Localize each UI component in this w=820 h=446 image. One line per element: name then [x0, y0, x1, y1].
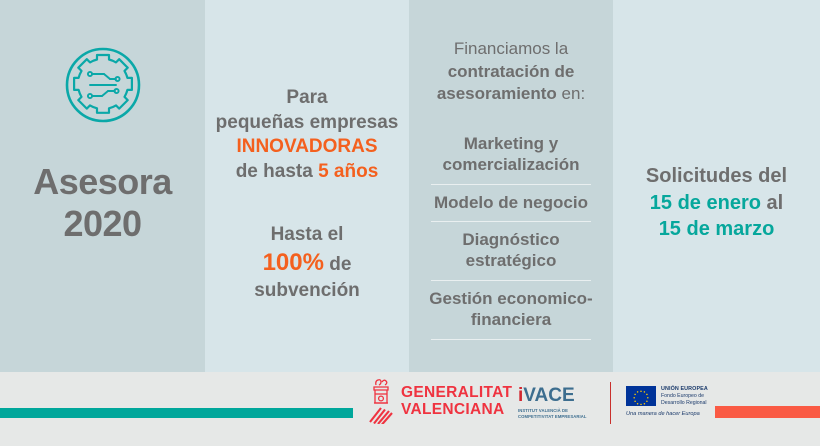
brand-title: Asesora 2020	[33, 161, 172, 246]
gear-circuit-icon	[63, 45, 143, 125]
eu-slogan: Una manera de hacer Europa	[626, 411, 708, 417]
european-union-flag-icon	[626, 386, 656, 406]
eligibility-line4-highlight: 5 años	[318, 161, 378, 182]
services-lead-bold1: contratación de	[448, 62, 575, 81]
eu-subtitle-line1: Fondo Europeo de	[661, 393, 708, 400]
services-lead: Financiamos la contratación de asesorami…	[417, 38, 605, 106]
eligibility-highlight-innovadoras: INNOVADORAS	[211, 135, 403, 160]
eligibility-line2: pequeñas empresas	[211, 111, 403, 136]
subsidy-line1: Hasta el	[211, 223, 403, 248]
ivace-rest: VACE	[523, 385, 574, 406]
gva-line2: VALENCIANA	[401, 401, 512, 418]
columns-container: Asesora 2020 Para pequeñas empresas INNO…	[0, 0, 820, 372]
eligibility-line4: de hasta 5 años	[211, 160, 403, 185]
teal-accent-bar	[0, 408, 353, 418]
service-item: Gestión economico-financiera	[417, 281, 605, 339]
european-union-text: UNIÓN EUROPEA Fondo Europeo de Desarroll…	[661, 386, 708, 407]
services-lead-line1: Financiamos la	[417, 38, 605, 61]
column-eligibility: Para pequeñas empresas INNOVADORAS de ha…	[205, 0, 409, 372]
brand-title-line1: Asesora	[33, 161, 172, 203]
service-item: Diagnóstico estratégico	[417, 222, 605, 280]
promotional-banner: Asesora 2020 Para pequeñas empresas INNO…	[0, 0, 820, 446]
eu-title: UNIÓN EUROPEA	[661, 386, 708, 393]
orange-accent-bar	[715, 406, 820, 418]
deadline-line2: 15 de enero al	[619, 190, 814, 217]
column-services: Financiamos la contratación de asesorami…	[409, 0, 613, 372]
ivace-subtitle-line2: COMPETITIVITAT EMPRESARIAL	[518, 414, 587, 420]
deadline-date-to: 15 de marzo	[619, 216, 814, 243]
column-brand: Asesora 2020	[0, 0, 205, 372]
column-deadline: Solicitudes del 15 de enero al 15 de mar…	[613, 0, 820, 372]
gva-line1: GENERALITAT	[401, 384, 512, 401]
services-lead-suffix: en:	[557, 84, 585, 103]
logo-divider	[610, 382, 611, 424]
subsidy-block: Hasta el 100% de subvención	[211, 223, 403, 304]
deadline-connector: al	[761, 192, 783, 214]
generalitat-valenciana-logo: GENERALITAT VALENCIANA	[368, 378, 512, 424]
services-lead-bold2: asesoramiento	[437, 84, 557, 103]
brand-title-line2: 2020	[33, 203, 172, 245]
ivace-subtitle: INSTITUT VALENCIÀ DE COMPETITIVITAT EMPR…	[518, 408, 587, 420]
subsidy-line2: 100% de	[211, 247, 403, 278]
subsidy-line2-suffix: de	[324, 254, 351, 275]
deadline-date-from: 15 de enero	[650, 192, 761, 214]
eligibility-line4-prefix: de hasta	[236, 161, 318, 182]
services-list: Marketing y comercialización Modelo de n…	[417, 126, 605, 340]
service-item: Marketing y comercialización	[417, 126, 605, 184]
service-item: Modelo de negocio	[417, 185, 605, 221]
eu-subtitle-line2: Desarrollo Regional	[661, 400, 708, 407]
deadline-block: Solicitudes del 15 de enero al 15 de mar…	[619, 163, 814, 243]
ivace-logo: iVACE INSTITUT VALENCIÀ DE COMPETITIVITA…	[518, 386, 587, 420]
generalitat-valenciana-wordmark: GENERALITAT VALENCIANA	[401, 384, 512, 419]
deadline-line1: Solicitudes del	[619, 163, 814, 190]
eligibility-block: Para pequeñas empresas INNOVADORAS de ha…	[211, 86, 403, 185]
generalitat-valenciana-shield-icon	[368, 378, 394, 424]
subsidy-percent: 100%	[263, 249, 324, 276]
eligibility-line1: Para	[211, 86, 403, 111]
european-union-logo: UNIÓN EUROPEA Fondo Europeo de Desarroll…	[626, 386, 708, 417]
subsidy-line3: subvención	[211, 279, 403, 304]
list-separator	[431, 339, 591, 340]
ivace-wordmark: iVACE	[518, 386, 587, 405]
